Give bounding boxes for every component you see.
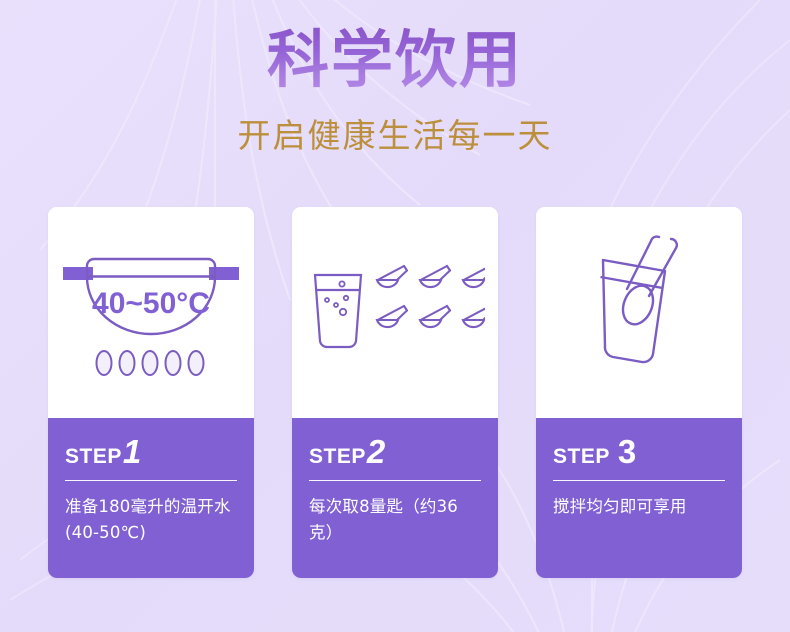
- step-3-number: 3: [618, 435, 636, 468]
- step-2-body: STEP 2 每次取8量匙（约36克）: [292, 418, 498, 578]
- step-3-heading: STEP 3: [553, 435, 725, 469]
- step-3-word: STEP: [553, 445, 610, 469]
- step-2-icon-area: [292, 207, 498, 418]
- measuring-scoop-row-1: [377, 266, 485, 287]
- step-1-word: STEP: [65, 445, 122, 469]
- step-card-2[interactable]: STEP 2 每次取8量匙（约36克）: [292, 207, 498, 578]
- step-2-description: 每次取8量匙（约36克）: [309, 494, 481, 547]
- step-card-3[interactable]: STEP 3 搅拌均匀即可享用: [536, 207, 742, 578]
- pot-temperature-label: 40~50°C: [92, 287, 210, 320]
- page-subtitle: 开启健康生活每一天: [0, 109, 790, 157]
- step-1-description: 准备180毫升的温开水(40-50℃): [65, 494, 237, 547]
- glass-and-scoops-icon: [305, 248, 485, 378]
- step-3-divider: [553, 480, 725, 481]
- step-3-body: STEP 3 搅拌均匀即可享用: [536, 418, 742, 578]
- step-2-heading: STEP 2: [309, 435, 481, 469]
- stirring-glass-spoon-icon: [559, 233, 719, 393]
- step-card-1[interactable]: 40~50°C STEP 1 准备180毫升的温开水(40-50℃): [48, 207, 254, 578]
- step-3-icon-area: [536, 207, 742, 418]
- step-1-number: 1: [123, 435, 141, 468]
- measuring-scoop-row-2: [377, 306, 485, 327]
- water-glass: [315, 275, 361, 347]
- heat-bubbles: [97, 351, 204, 375]
- step-1-body: STEP 1 准备180毫升的温开水(40-50℃): [48, 418, 254, 578]
- water-bubbles: [325, 281, 348, 315]
- step-3-description: 搅拌均匀即可享用: [553, 494, 725, 520]
- step-2-word: STEP: [309, 445, 366, 469]
- step-1-heading: STEP 1: [65, 435, 237, 469]
- step-2-number: 2: [367, 435, 385, 468]
- pot-handle-right: [209, 267, 239, 280]
- step-1-icon-area: 40~50°C: [48, 207, 254, 418]
- page-title: 科学饮用: [0, 24, 790, 95]
- step-1-divider: [65, 480, 237, 481]
- page-header: 科学饮用 开启健康生活每一天: [0, 0, 790, 157]
- pot-handle-left: [63, 267, 93, 280]
- step-2-divider: [309, 480, 481, 481]
- steps-card-list: 40~50°C STEP 1 准备180毫升的温开水(40-50℃): [48, 207, 742, 578]
- warm-water-pot-icon: 40~50°C: [61, 245, 241, 380]
